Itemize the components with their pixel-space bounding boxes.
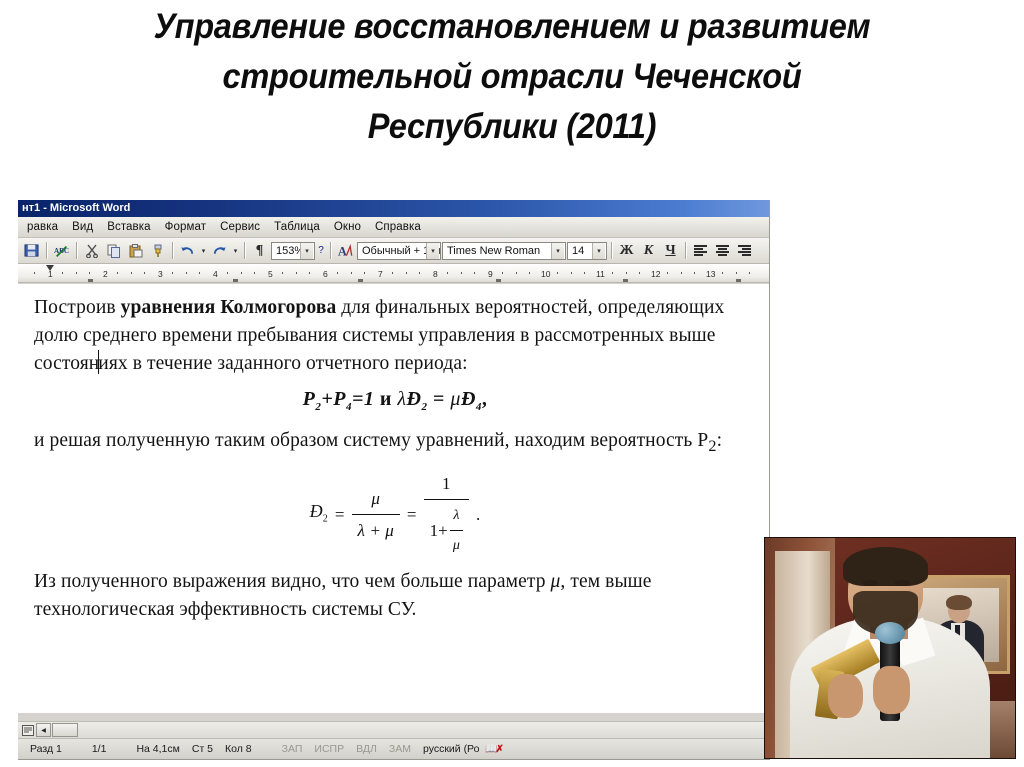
menu-item-table[interactable]: Таблица (267, 220, 327, 234)
document-paragraph-1: Построив уравнения Колмогорова для финал… (34, 294, 756, 378)
spelling-check-icon[interactable]: ABC (51, 240, 72, 261)
document-page[interactable]: Построив уравнения Колмогорова для финал… (18, 284, 770, 624)
redo-icon[interactable] (209, 240, 230, 261)
equation-final-probability: Ð2 = μ λ + μ = 1 1+ λ μ (34, 470, 756, 560)
document-canvas[interactable]: Построив уравнения Колмогорова для финал… (18, 284, 770, 713)
formula2-fraction-1: μ λ + μ (352, 485, 400, 545)
italic-button[interactable]: К (638, 240, 659, 261)
status-extend-selection[interactable]: ВДЛ (350, 743, 383, 755)
para3-text-a: Из полученного выражения видно, что чем … (34, 571, 551, 592)
formula1-mu: μ (450, 388, 461, 410)
formula2-fraction-2: 1 1+ λ μ (424, 470, 469, 560)
menu-bar: равка Вид Вставка Формат Сервис Таблица … (18, 217, 769, 238)
chevron-down-icon[interactable]: ▾ (426, 243, 439, 259)
document-paragraph-3: Из полученного выражения видно, что чем … (34, 568, 756, 624)
formula2-lhs: Ð2 (310, 497, 328, 534)
photo-eye-left (863, 580, 878, 587)
para2-text: и решая полученную таким образом систему… (34, 430, 708, 451)
para1-text-c: иях в течение заданного отчетного период… (98, 353, 467, 374)
formula2-lhs-symbol: Ð (310, 501, 323, 521)
status-language[interactable]: русский (Ро (417, 743, 485, 755)
toolbar-separator (685, 242, 686, 259)
redo-dropdown-icon[interactable]: ▾ (231, 240, 240, 261)
font-name-combobox[interactable]: Times New Roman ▾ (442, 242, 566, 260)
formula1-equals: =1 (352, 388, 374, 410)
formula1-p4: P (333, 388, 346, 410)
menu-item-window[interactable]: Окно (327, 220, 368, 234)
chevron-down-icon[interactable]: ▾ (592, 243, 605, 259)
ruler-tick: 3 (158, 269, 163, 279)
font-size-value: 14 (572, 245, 584, 257)
style-combobox[interactable]: Обычный + 14 г ▾ (357, 242, 441, 260)
photo-hair (843, 547, 928, 587)
formula1-comma: , (482, 388, 488, 410)
ruler-tick: 10 (541, 269, 550, 279)
document-paragraph-2: и решая полученную таким образом систему… (34, 427, 756, 460)
formula1-d2-sub: 2 (422, 401, 428, 413)
formula2-equals-1: = (335, 501, 345, 529)
horizontal-ruler[interactable]: 1 2 3 4 5 6 7 8 9 10 11 12 13 (18, 264, 769, 283)
ruler-tick: 6 (323, 269, 328, 279)
font-size-combobox[interactable]: 14 ▾ (567, 242, 607, 260)
styles-and-formatting-icon[interactable]: A (335, 240, 356, 261)
ruler-tick: 13 (706, 269, 715, 279)
horizontal-scroll-thumb[interactable] (52, 723, 78, 737)
menu-item-format[interactable]: Формат (158, 220, 213, 234)
photo-microphone-head (875, 622, 905, 644)
menu-item-help[interactable]: Справка (368, 220, 428, 234)
status-overtype[interactable]: ЗАМ (383, 743, 417, 755)
ruler-tick: 12 (651, 269, 660, 279)
page-title: Управление восстановлением и развитием с… (36, 2, 988, 152)
status-vertical-position: На 4,1см (130, 743, 185, 755)
para2-colon: : (717, 430, 723, 451)
para3-mu-symbol: μ (551, 571, 561, 592)
formula1-p2: P (303, 388, 316, 410)
photo-hand-holding-pistol (828, 674, 863, 718)
status-line: Ст 5 (186, 743, 219, 755)
toolbar-separator (330, 242, 331, 259)
spelling-status-icon[interactable]: 📖✗ (485, 743, 503, 756)
status-page-count: 1/1 (86, 743, 113, 755)
status-section: Разд 1 (24, 743, 68, 755)
chevron-down-icon[interactable]: ▾ (300, 243, 313, 259)
photo-hand-holding-microphone (873, 666, 911, 714)
status-bar: Разд 1 1/1 На 4,1см Ст 5 Кол 8 ЗАП ИСПР … (18, 738, 770, 759)
formula2-f2-den-one: 1+ (430, 517, 448, 545)
ruler-tick: 2 (103, 269, 108, 279)
status-track-changes[interactable]: ИСПР (308, 743, 350, 755)
ruler-tick: 1 (48, 269, 53, 279)
menu-item-view[interactable]: Вид (65, 220, 100, 234)
cut-scissors-icon[interactable] (81, 240, 102, 261)
page-title-line-2: строительной отрасли Чеченской (36, 52, 988, 102)
help-icon[interactable]: ? (316, 240, 326, 261)
horizontal-scrollbar-row[interactable]: ◀ (18, 721, 770, 738)
undo-icon[interactable] (177, 240, 198, 261)
formula1-d2: Ð (407, 388, 422, 410)
formula1-eq2: = (433, 388, 445, 410)
formula2-nested-denominator: μ (450, 530, 463, 560)
align-left-icon[interactable] (690, 240, 711, 261)
menu-item-edit[interactable]: равка (20, 220, 65, 234)
copy-icon[interactable] (103, 240, 124, 261)
formula2-f2-numerator: 1 (436, 470, 457, 499)
font-name-value: Times New Roman (447, 245, 540, 257)
page-title-line-1: Управление восстановлением и развитием (36, 2, 988, 52)
menu-item-tools[interactable]: Сервис (213, 220, 267, 234)
formula2-f1-denominator: λ + μ (352, 514, 400, 545)
toolbar-separator (611, 242, 612, 259)
paragraph-marks-icon[interactable]: ¶ (249, 240, 270, 261)
ruler-tick: 11 (596, 269, 605, 279)
formula2-period: . (476, 501, 480, 529)
standard-and-formatting-toolbar: ABC ▾ ▾ ¶ 153% ▾ ? A (18, 238, 769, 264)
page-title-line-3: Республики (2011) (36, 102, 988, 152)
save-icon[interactable] (21, 240, 42, 261)
formula1-lambda: λ (397, 388, 406, 410)
ruler-tick: 5 (268, 269, 273, 279)
ruler-tick: 8 (433, 269, 438, 279)
word-application-window: нт1 - Microsoft Word равка Вид Вставка Ф… (18, 200, 770, 760)
normal-view-icon[interactable] (20, 723, 35, 737)
chevron-down-icon[interactable]: ▾ (551, 243, 564, 259)
underline-button[interactable]: Ч (660, 240, 681, 261)
toolbar-separator (46, 242, 47, 259)
para1-text-a: Построив (34, 297, 121, 318)
para1-bold-term: уравнения Колмогорова (121, 297, 337, 318)
formula1-conjunction: и (380, 388, 392, 410)
formula1-d4: Ð (461, 388, 476, 410)
photo-portrait-hair (946, 595, 972, 610)
ruler-tick: 9 (488, 269, 493, 279)
status-record-mode[interactable]: ЗАП (276, 743, 309, 755)
ruler-tick: 4 (213, 269, 218, 279)
formula1-plus: + (321, 388, 333, 410)
svg-text:A: A (338, 244, 347, 257)
window-titlebar: нт1 - Microsoft Word (18, 200, 769, 217)
toolbar-separator (172, 242, 173, 259)
ruler-tick: 7 (378, 269, 383, 279)
align-center-icon[interactable] (712, 240, 733, 261)
paste-icon[interactable] (125, 240, 146, 261)
formula2-equals-2: = (407, 501, 417, 529)
bold-button[interactable]: Ж (616, 240, 637, 261)
toolbar-separator (76, 242, 77, 259)
menu-item-insert[interactable]: Вставка (100, 220, 157, 234)
formula2-f1-numerator: μ (365, 485, 386, 514)
undo-dropdown-icon[interactable]: ▾ (199, 240, 208, 261)
photo-man-with-microphone (764, 537, 1016, 759)
scroll-left-arrow-icon[interactable]: ◀ (36, 723, 51, 737)
zoom-combobox[interactable]: 153% ▾ (271, 242, 315, 260)
format-painter-icon[interactable] (147, 240, 168, 261)
equation-balance: P2+P4=1 и λÐ2 = μÐ4, (34, 385, 756, 421)
formula2-nested-numerator: λ (450, 502, 462, 530)
align-right-icon[interactable] (734, 240, 755, 261)
formula2-f2-denominator: 1+ λ μ (424, 499, 469, 560)
formula2-nested-fraction: λ μ (450, 502, 463, 560)
formula2-lhs-sub: 2 (323, 513, 328, 524)
toolbar-separator (244, 242, 245, 259)
para2-subscript: 2 (708, 437, 716, 455)
status-column: Кол 8 (219, 743, 258, 755)
